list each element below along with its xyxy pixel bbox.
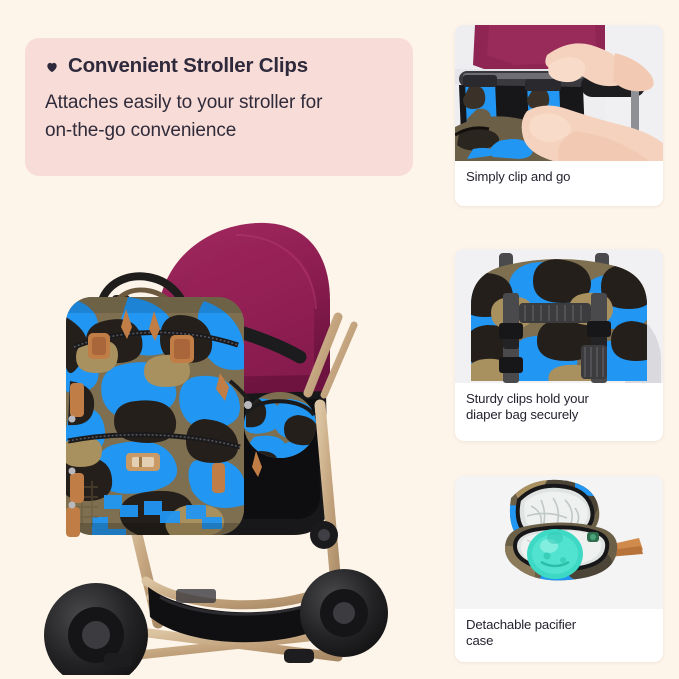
card-sturdy-clips-caption: Sturdy clips hold your diaper bag secure… — [455, 383, 663, 423]
left-column: Convenient Stroller Clips Attaches easil… — [0, 0, 443, 679]
card-sturdy-clips[interactable]: Sturdy clips hold your diaper bag secure… — [455, 249, 663, 441]
callout-title-row: Convenient Stroller Clips — [45, 54, 391, 78]
card-pacifier-case-caption-line-1: Detachable pacifier — [466, 617, 652, 633]
card-sturdy-clips-caption-line-1: Sturdy clips hold your — [466, 391, 652, 407]
card-sturdy-clips-photo — [455, 249, 663, 383]
card-pacifier-case-caption-line-2: case — [466, 633, 652, 649]
diaper-backpack — [60, 276, 244, 537]
feature-cards-column: Simply clip and go — [453, 0, 679, 679]
callout-body: Attaches easily to your stroller for on-… — [45, 89, 391, 144]
callout-body-line-2: on-the-go convenience — [45, 117, 391, 145]
heart-icon — [45, 60, 59, 74]
card-clip-and-go-photo — [455, 25, 663, 161]
callout-title: Convenient Stroller Clips — [68, 54, 308, 78]
feature-panel: Convenient Stroller Clips Attaches easil… — [0, 0, 679, 679]
card-clip-and-go-caption-line-1: Simply clip and go — [466, 169, 652, 185]
card-clip-and-go[interactable]: Simply clip and go — [455, 25, 663, 206]
callout-body-line-1: Attaches easily to your stroller for — [45, 89, 391, 117]
card-clip-and-go-caption: Simply clip and go — [455, 161, 663, 185]
card-pacifier-case[interactable]: Detachable pacifier case — [455, 476, 663, 662]
hero-image-stroller-with-bag — [8, 205, 438, 675]
callout-box: Convenient Stroller Clips Attaches easil… — [25, 38, 413, 176]
card-sturdy-clips-caption-line-2: diaper bag securely — [466, 407, 652, 423]
card-pacifier-case-photo — [455, 476, 663, 609]
card-pacifier-case-caption: Detachable pacifier case — [455, 609, 663, 649]
